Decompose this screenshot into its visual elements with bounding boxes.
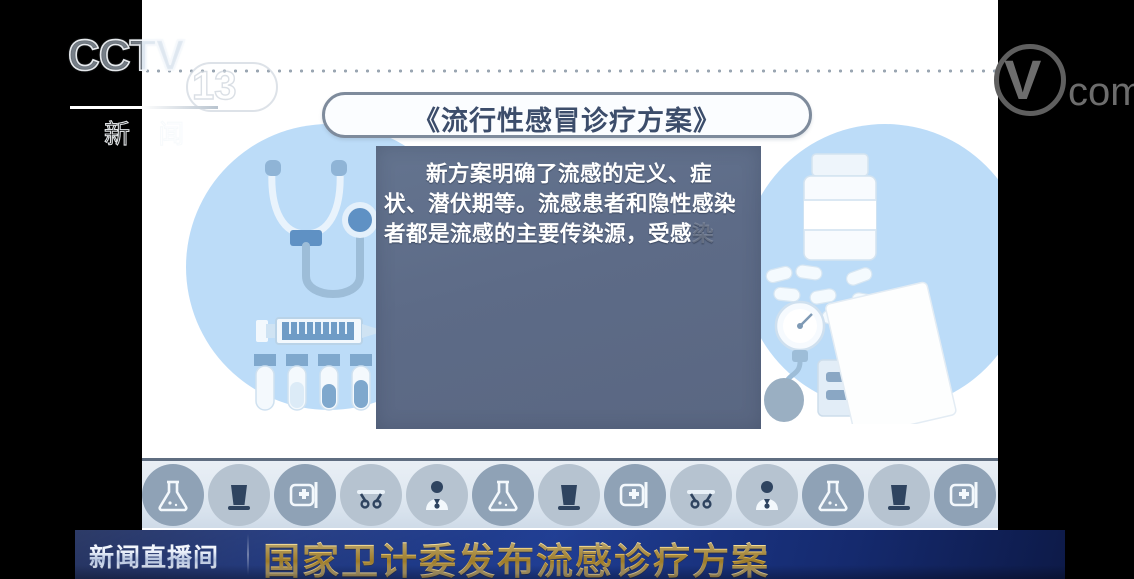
content-text-panel: 新方案明确了流感的定义、症状、潜伏期等。流感患者和隐性感染者都是流感的主要传染源… [376,146,761,429]
blood-pressure-gauge-icon [764,302,824,422]
lower-third-bottom-shade [75,565,1065,579]
hospital-sign-icon [604,464,666,526]
pill-bottle-icon [804,154,876,260]
site-watermark: V com [990,38,1134,130]
infographic-card: 新方案明确了流感的定义、症状、潜伏期等。流感患者和隐性感染者都是流感的主要传染源… [142,74,998,458]
channel-logo: CCTV 13 新 闻 [68,34,238,140]
waste-bin-icon [538,464,600,526]
waste-bin-icon [868,464,930,526]
hospital-sign-icon [934,464,996,526]
watermark-suffix: com [1068,72,1134,112]
stretcher-icon [340,464,402,526]
flask-icon [802,464,864,526]
watermark-mark: V [1004,52,1041,108]
channel-name: CCTV [68,34,184,78]
stretcher-icon [670,464,732,526]
body-text: 新方案明确了流感的定义、症状、潜伏期等。流感患者和隐性感染者都是流感的主要传染源… [384,162,736,247]
doctor-icon [736,464,798,526]
channel-logo-underline [70,106,218,109]
graphic-title: 《流行性感冒诊疗方案》 [325,99,809,138]
channel-number: 13 [192,66,237,106]
content-body-text: 新方案明确了流感的定义、症状、潜伏期等。流感患者和隐性感染者都是流感的主要传染源… [384,160,753,250]
graphic-title-pill: 《流行性感冒诊疗方案》 [322,92,812,138]
doctor-icon [406,464,468,526]
waste-bin-icon [208,464,270,526]
lower-third-banner: 新闻直播间 国家卫计委发布流感诊疗方案 [75,530,1065,579]
body-text-ghost-tail: 染 [692,222,714,247]
hospital-sign-icon [274,464,336,526]
medicine-illustration [760,144,970,424]
flask-icon [472,464,534,526]
stethoscope-icon [265,160,378,294]
illustration-right [760,144,970,424]
broadcast-screen: 新方案明确了流感的定义、症状、潜伏期等。流感患者和隐性感染者都是流感的主要传染源… [0,0,1134,579]
flask-icon [142,464,204,526]
channel-subtitle: 新 闻 [104,114,194,151]
medical-icon-strip [142,458,998,528]
